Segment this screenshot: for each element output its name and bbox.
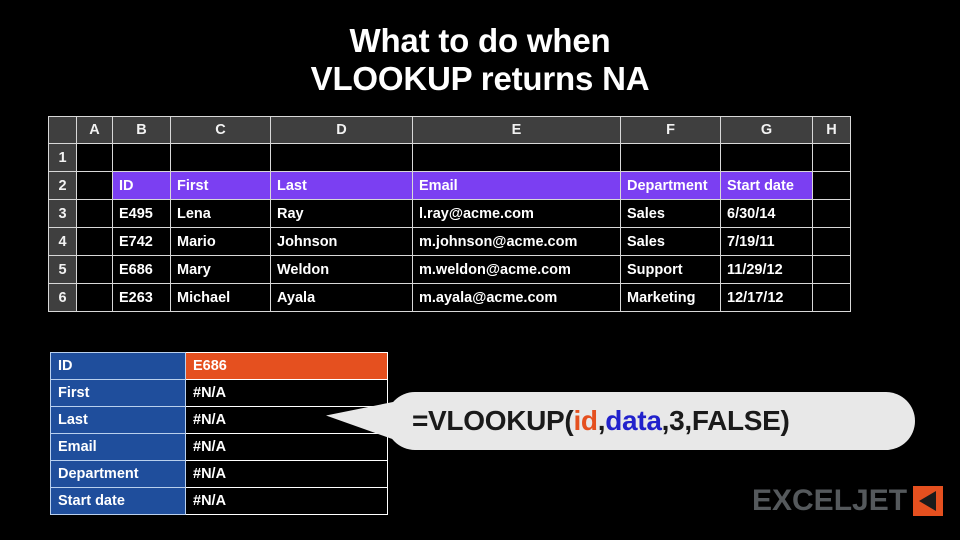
grid-column-header-h[interactable]: H — [813, 117, 851, 144]
grid-cell-d5[interactable]: Weldon — [271, 256, 413, 284]
play-triangle-icon — [913, 486, 943, 516]
lookup-label-department[interactable]: Department — [51, 461, 186, 488]
grid-cell-f4[interactable]: Sales — [621, 228, 721, 256]
grid-cell-b4[interactable]: E742 — [113, 228, 171, 256]
grid-cell-c4[interactable]: Mario — [171, 228, 271, 256]
grid-cell-a6[interactable] — [77, 284, 113, 312]
grid-cell-a3[interactable] — [77, 200, 113, 228]
lookup-value-department[interactable]: #N/A — [186, 461, 388, 488]
grid-cell-a5[interactable] — [77, 256, 113, 284]
lookup-label-first[interactable]: First — [51, 380, 186, 407]
grid-row-header-3[interactable]: 3 — [49, 200, 77, 228]
grid-cell-f1[interactable] — [621, 144, 721, 172]
grid-cell-g6[interactable]: 12/17/12 — [721, 284, 813, 312]
grid-cell-h1[interactable] — [813, 144, 851, 172]
grid-row: 1 — [49, 144, 851, 172]
grid-row: 3E495LenaRayl.ray@acme.comSales6/30/14 — [49, 200, 851, 228]
formula-arg-id: id — [573, 405, 597, 437]
grid-column-header-f[interactable]: F — [621, 117, 721, 144]
lookup-row: Start date#N/A — [51, 488, 388, 515]
grid-column-header-c[interactable]: C — [171, 117, 271, 144]
grid-row: 6E263MichaelAyalam.ayala@acme.comMarketi… — [49, 284, 851, 312]
formula-callout: =VLOOKUP(id,data,3,FALSE) — [326, 391, 916, 451]
lookup-label-id[interactable]: ID — [51, 353, 186, 380]
grid-cell-h4[interactable] — [813, 228, 851, 256]
grid-cell-g2[interactable]: Start date — [721, 172, 813, 200]
grid-cell-d3[interactable]: Ray — [271, 200, 413, 228]
grid-column-header-a[interactable]: A — [77, 117, 113, 144]
grid-cell-g3[interactable]: 6/30/14 — [721, 200, 813, 228]
grid-cell-e1[interactable] — [413, 144, 621, 172]
lookup-value-start-date[interactable]: #N/A — [186, 488, 388, 515]
grid-column-header-row: ABCDEFGH — [49, 117, 851, 144]
grid-cell-e2[interactable]: Email — [413, 172, 621, 200]
lookup-label-email[interactable]: Email — [51, 434, 186, 461]
grid-cell-g4[interactable]: 7/19/11 — [721, 228, 813, 256]
lookup-row: IDE686 — [51, 353, 388, 380]
grid-row: 4E742MarioJohnsonm.johnson@acme.comSales… — [49, 228, 851, 256]
grid-cell-a2[interactable] — [77, 172, 113, 200]
lookup-label-start-date[interactable]: Start date — [51, 488, 186, 515]
grid-row: 5E686MaryWeldonm.weldon@acme.comSupport1… — [49, 256, 851, 284]
grid-column-header-e[interactable]: E — [413, 117, 621, 144]
formula-separator-1: , — [598, 405, 605, 437]
slide-canvas: What to do when VLOOKUP returns NA ABCDE… — [0, 0, 960, 540]
lookup-label-last[interactable]: Last — [51, 407, 186, 434]
grid-cell-b2[interactable]: ID — [113, 172, 171, 200]
grid-cell-e5[interactable]: m.weldon@acme.com — [413, 256, 621, 284]
formula-suffix: ,3,FALSE) — [662, 405, 790, 437]
formula-arg-data: data — [605, 405, 661, 437]
grid-cell-d4[interactable]: Johnson — [271, 228, 413, 256]
grid-cell-h5[interactable] — [813, 256, 851, 284]
grid-cell-f5[interactable]: Support — [621, 256, 721, 284]
grid-body: 12IDFirstLastEmailDepartmentStart date3E… — [49, 144, 851, 312]
grid-cell-h2[interactable] — [813, 172, 851, 200]
grid-cell-h3[interactable] — [813, 200, 851, 228]
grid-cell-e6[interactable]: m.ayala@acme.com — [413, 284, 621, 312]
grid-corner-cell[interactable] — [49, 117, 77, 144]
grid-cell-d6[interactable]: Ayala — [271, 284, 413, 312]
grid-cell-c1[interactable] — [171, 144, 271, 172]
grid-cell-d1[interactable] — [271, 144, 413, 172]
grid-cell-f3[interactable]: Sales — [621, 200, 721, 228]
grid-cell-e3[interactable]: l.ray@acme.com — [413, 200, 621, 228]
logo-wordmark: EXCELJET — [752, 486, 907, 516]
grid-row-header-4[interactable]: 4 — [49, 228, 77, 256]
grid-row-header-1[interactable]: 1 — [49, 144, 77, 172]
grid-cell-g1[interactable] — [721, 144, 813, 172]
grid-cell-a4[interactable] — [77, 228, 113, 256]
grid-cell-c6[interactable]: Michael — [171, 284, 271, 312]
formula-text: =VLOOKUP(id,data,3,FALSE) — [412, 391, 790, 451]
grid-cell-a1[interactable] — [77, 144, 113, 172]
grid-row: 2IDFirstLastEmailDepartmentStart date — [49, 172, 851, 200]
page-title: What to do when VLOOKUP returns NA — [0, 22, 960, 98]
grid-cell-b5[interactable]: E686 — [113, 256, 171, 284]
grid-cell-g5[interactable]: 11/29/12 — [721, 256, 813, 284]
grid-cell-f2[interactable]: Department — [621, 172, 721, 200]
grid-cell-d2[interactable]: Last — [271, 172, 413, 200]
grid-column-header-d[interactable]: D — [271, 117, 413, 144]
grid-row-header-2[interactable]: 2 — [49, 172, 77, 200]
lookup-row: Department#N/A — [51, 461, 388, 488]
grid-row-header-5[interactable]: 5 — [49, 256, 77, 284]
grid-cell-c3[interactable]: Lena — [171, 200, 271, 228]
grid-cell-h6[interactable] — [813, 284, 851, 312]
grid-cell-b6[interactable]: E263 — [113, 284, 171, 312]
grid-cell-b3[interactable]: E495 — [113, 200, 171, 228]
grid-column-header-b[interactable]: B — [113, 117, 171, 144]
grid-cell-f6[interactable]: Marketing — [621, 284, 721, 312]
grid-row-header-6[interactable]: 6 — [49, 284, 77, 312]
grid-cell-e4[interactable]: m.johnson@acme.com — [413, 228, 621, 256]
lookup-value-id[interactable]: E686 — [186, 353, 388, 380]
grid-cell-b1[interactable] — [113, 144, 171, 172]
formula-prefix: =VLOOKUP( — [412, 405, 573, 437]
grid-cell-c2[interactable]: First — [171, 172, 271, 200]
source-data-grid: ABCDEFGH 12IDFirstLastEmailDepartmentSta… — [48, 116, 851, 312]
exceljet-logo: EXCELJET — [752, 486, 943, 516]
grid-cell-c5[interactable]: Mary — [171, 256, 271, 284]
grid-column-header-g[interactable]: G — [721, 117, 813, 144]
